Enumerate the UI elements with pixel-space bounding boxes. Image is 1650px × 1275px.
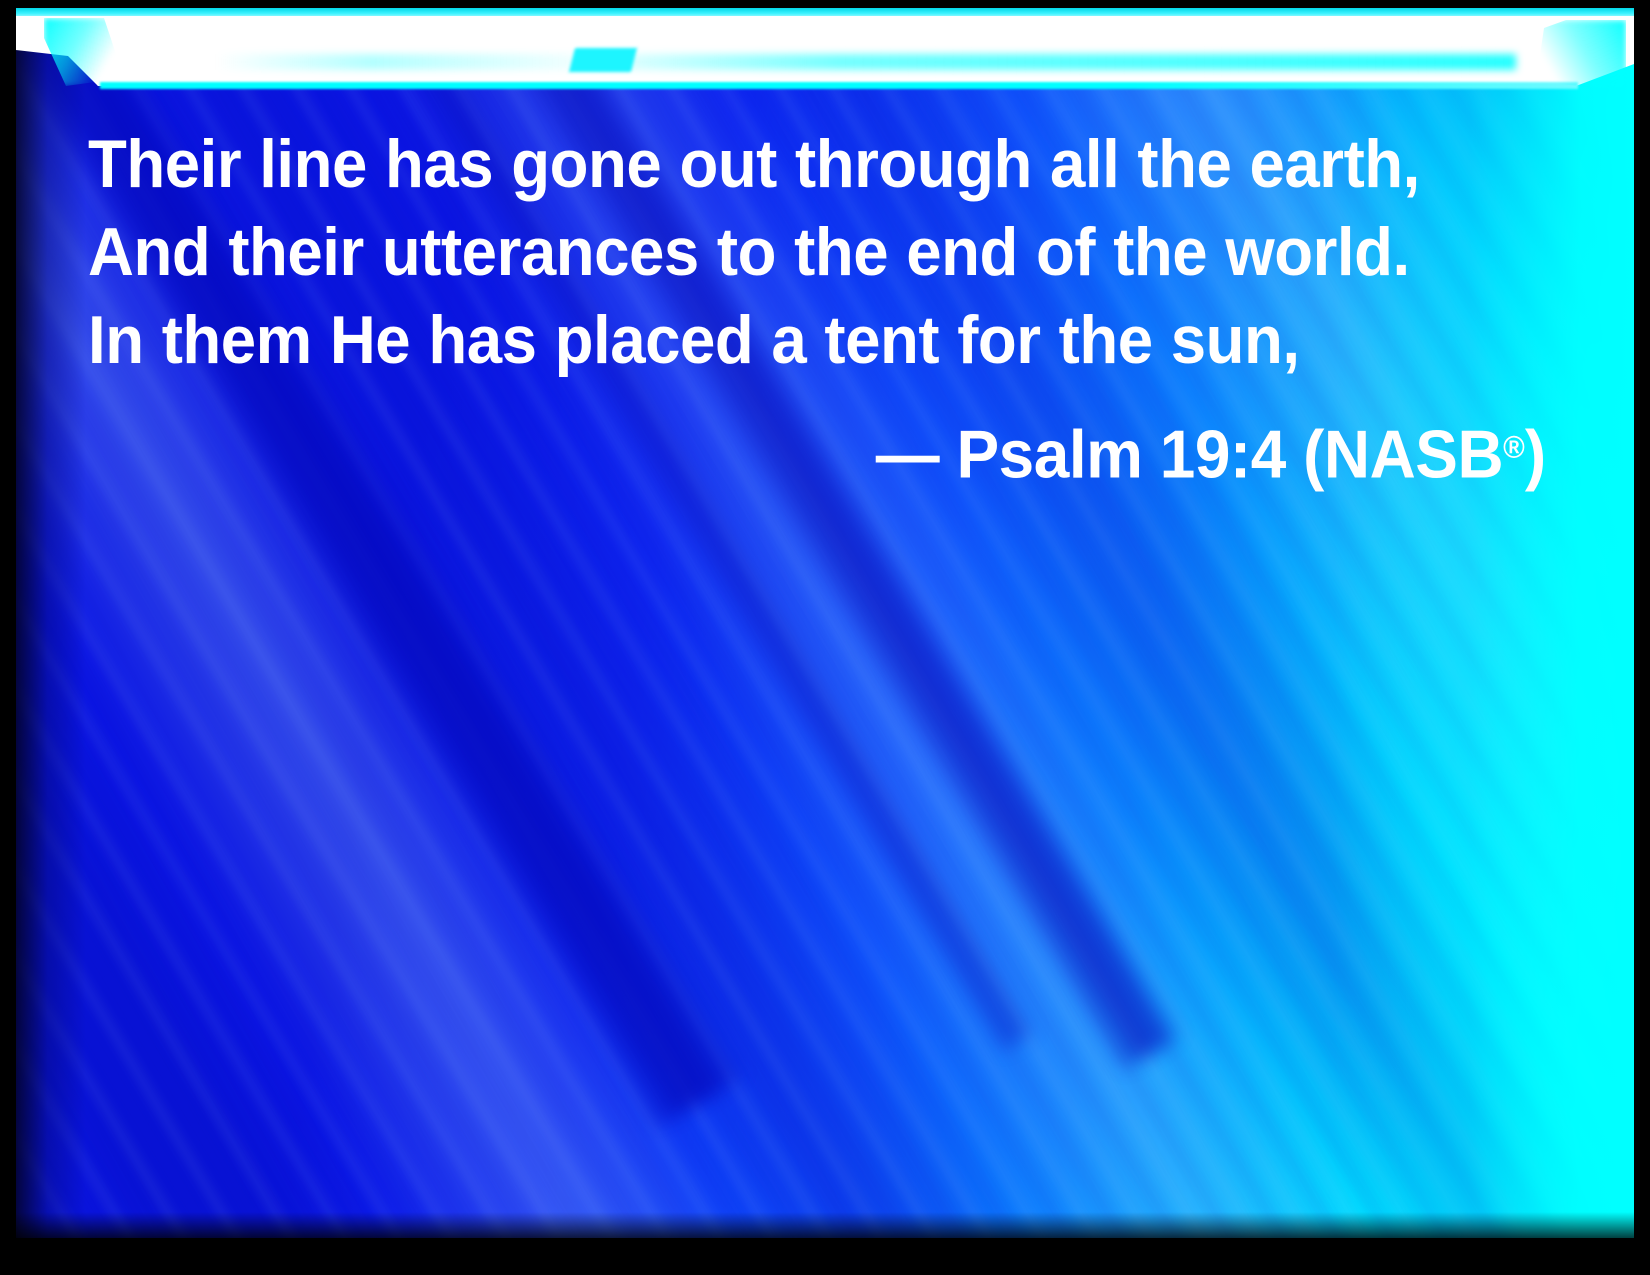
background-bottom-shadow — [16, 1212, 1634, 1238]
attribution-closing-paren: ) — [1525, 416, 1546, 492]
slide-frame: Their line has gone out through all the … — [0, 0, 1650, 1275]
registered-trademark-icon: ® — [1504, 430, 1526, 465]
background-left-shadow — [16, 8, 86, 1238]
slide-canvas: Their line has gone out through all the … — [16, 8, 1634, 1238]
verse-attribution: — Psalm 19:4 (NASB®) — [876, 410, 1546, 492]
verse-text: Their line has gone out through all the … — [88, 120, 1472, 384]
attribution-row: — Psalm 19:4 (NASB®) — [88, 384, 1568, 492]
verse-block: Their line has gone out through all the … — [88, 120, 1568, 492]
attribution-reference: — Psalm 19:4 (NASB — [876, 416, 1503, 492]
